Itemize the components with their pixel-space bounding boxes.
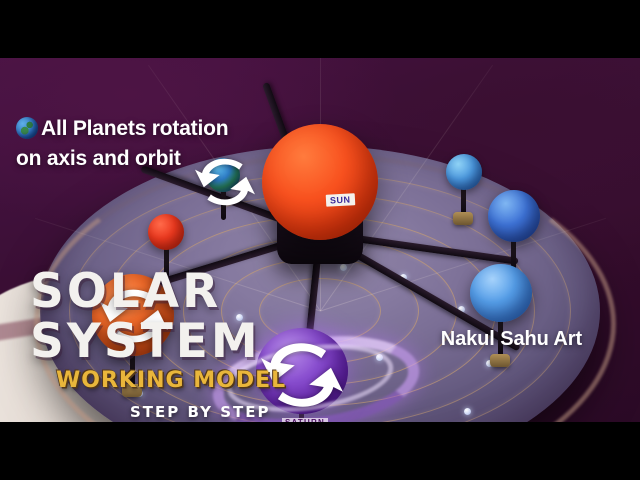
caption-line-2: on axis and orbit	[16, 144, 346, 174]
globe-earth-icon	[16, 117, 38, 139]
planet-mount-clip	[453, 212, 473, 225]
title-line-system: SYSTEM	[30, 320, 286, 365]
letterbox-bar-top	[0, 0, 640, 58]
letterbox-bar-bottom	[0, 422, 640, 480]
planet-mars	[148, 214, 184, 250]
caption-block: All Planets rotation on axis and orbit	[16, 114, 346, 174]
title-line-solar: SOLAR	[30, 270, 286, 315]
planet-neptune-outer	[470, 264, 532, 322]
caption-line-1-text: All Planets rotation	[41, 117, 228, 140]
video-frame-stage: SATURN SUN	[0, 0, 640, 480]
planet-mount-clip	[490, 354, 510, 367]
orbit-bead	[464, 408, 471, 415]
sun-label: SUN	[326, 193, 355, 206]
video-content-area: SATURN SUN	[0, 58, 640, 422]
title-tagline-step-by-step: STEP BY STEP	[130, 403, 286, 421]
planet-neptune	[488, 190, 540, 242]
channel-byline: Nakul Sahu Art	[441, 328, 582, 351]
title-subtitle-working-model: WORKING MODEL	[56, 368, 286, 393]
title-block: SOLAR SYSTEM WORKING MODEL STEP BY STEP	[30, 270, 286, 421]
caption-line-1: All Planets rotation	[16, 114, 346, 144]
planet-uranus	[446, 154, 482, 190]
orbit-bead	[340, 264, 347, 271]
